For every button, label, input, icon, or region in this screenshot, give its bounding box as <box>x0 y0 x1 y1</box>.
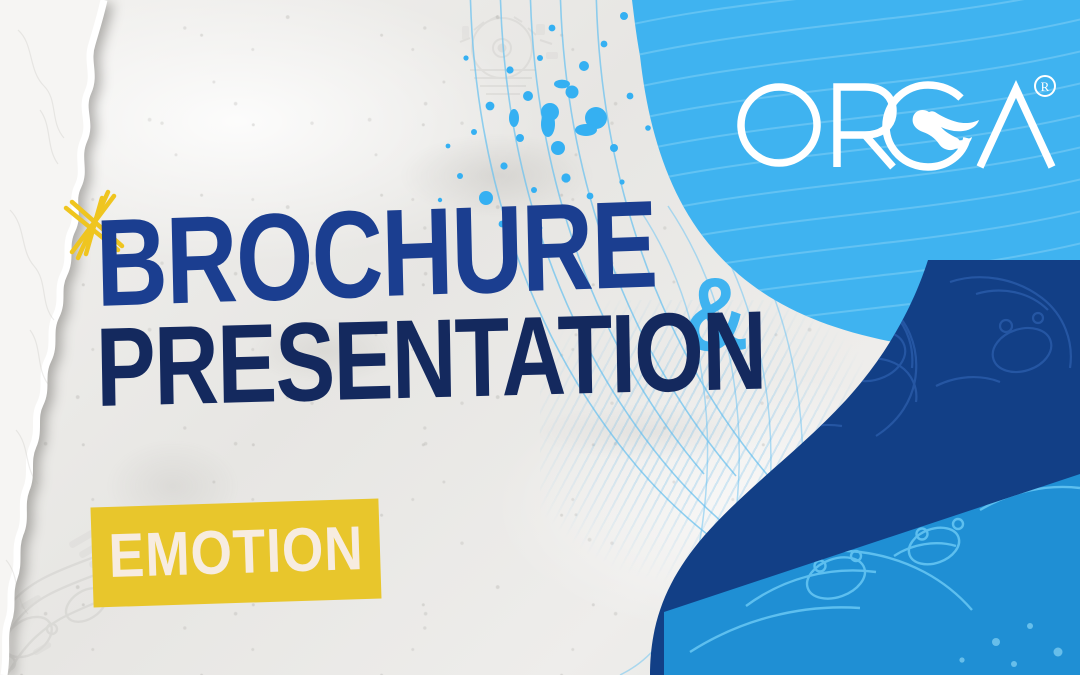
poster-canvas: BROCHURE & PRESENTATION EMOTION R <box>0 0 1080 675</box>
orca-logo: R <box>733 70 1063 175</box>
headline-presentation: PRESENTATION <box>95 307 672 414</box>
headline-block: BROCHURE & PRESENTATION <box>96 214 816 414</box>
trademark-icon: R <box>1035 76 1055 96</box>
svg-text:R: R <box>1041 79 1050 94</box>
emotion-badge-label: EMOTION <box>108 518 365 588</box>
emotion-badge: EMOTION <box>91 499 382 608</box>
